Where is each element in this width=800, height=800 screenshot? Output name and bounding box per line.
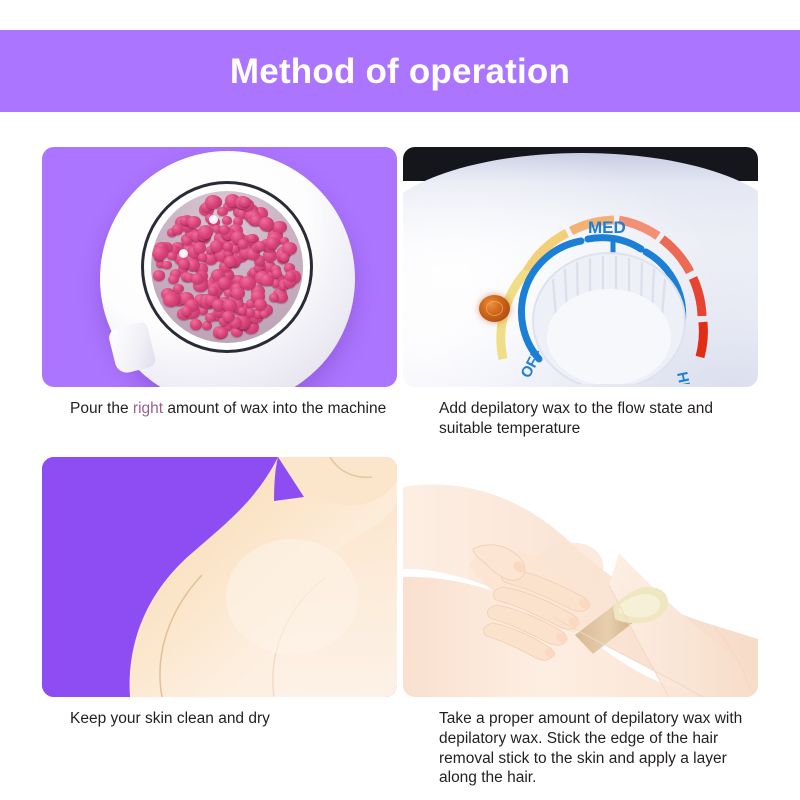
- step-card-1: Pour the right amount of wax into the ma…: [42, 147, 397, 451]
- dial-knob: [533, 253, 685, 384]
- step-caption-2: Add depilatory wax to the flow state and…: [403, 387, 758, 451]
- wax-bead: [223, 242, 233, 251]
- page-title: Method of operation: [230, 54, 570, 89]
- wax-bead: [266, 237, 279, 248]
- caption-text-after: amount of wax into the machine: [163, 400, 386, 417]
- wax-bead: [202, 321, 212, 330]
- wax-bead: [182, 236, 192, 245]
- wax-bead: [198, 253, 208, 261]
- wax-warmer-temperature-dial-image: OFF ON MED HI: [403, 147, 758, 387]
- step-caption-3: Keep your skin clean and dry: [42, 697, 397, 761]
- temperature-dial[interactable]: OFF ON MED HI: [481, 209, 731, 384]
- wax-bead: [238, 307, 247, 315]
- wax-bead: [260, 310, 269, 318]
- wax-bead: [153, 270, 165, 280]
- header-banner: Method of operation: [0, 30, 800, 112]
- wax-bead: [198, 225, 213, 239]
- wax-bead: [205, 195, 221, 209]
- wax-bead: [285, 271, 296, 280]
- step-card-4: Take a proper amount of depilatory wax w…: [403, 457, 758, 788]
- wax-bead: [210, 240, 223, 252]
- applying-wax-to-leg-image: [403, 457, 758, 697]
- wax-bead: [172, 224, 184, 235]
- wax-bead: [254, 299, 267, 310]
- dial-label-hi: HI: [673, 370, 693, 384]
- wax-bead-highlight: [179, 249, 188, 258]
- wax-bead: [269, 293, 279, 302]
- wax-bead: [162, 261, 171, 269]
- pink-wax-beads: [151, 191, 303, 343]
- steps-grid: Pour the right amount of wax into the ma…: [42, 147, 758, 788]
- wax-bead-highlight: [209, 215, 218, 224]
- wax-bead: [259, 217, 274, 231]
- wax-warmer-with-pink-beads-image: [42, 147, 397, 387]
- wax-bead: [280, 253, 289, 261]
- back-shoulder-illustration: [42, 457, 397, 697]
- caption-text-before: Pour the: [70, 400, 133, 417]
- power-indicator-light: [479, 295, 510, 322]
- step-caption-4: Take a proper amount of depilatory wax w…: [403, 697, 758, 788]
- wax-bead: [167, 252, 177, 261]
- wax-bead: [187, 216, 201, 228]
- caption-highlight-word: right: [133, 400, 163, 417]
- wax-bead: [219, 225, 230, 234]
- legs-with-spatula-illustration: [403, 457, 758, 697]
- wax-bead: [222, 216, 232, 225]
- step-card-2: OFF ON MED HI Add depilatory wax to the …: [403, 147, 758, 451]
- wax-bead: [152, 246, 168, 260]
- wax-bead: [238, 239, 248, 248]
- wax-bead: [168, 275, 179, 284]
- wax-bead: [173, 284, 184, 294]
- wax-bead: [208, 286, 218, 295]
- wax-bead: [231, 287, 245, 299]
- dial-label-med: MED: [588, 218, 626, 237]
- wax-bead: [191, 273, 204, 285]
- clean-dry-skin-back-illustration-image: [42, 457, 397, 697]
- wax-pot-interior: [151, 191, 303, 343]
- wax-bead: [190, 319, 202, 330]
- wax-bead: [223, 299, 238, 312]
- wax-bead: [217, 207, 228, 217]
- step-card-3: Keep your skin clean and dry: [42, 457, 397, 788]
- wax-bead: [216, 328, 228, 339]
- wax-bead: [205, 313, 215, 322]
- step-caption-1: Pour the right amount of wax into the ma…: [42, 387, 397, 451]
- wax-bead: [247, 234, 256, 242]
- wax-bead: [272, 269, 282, 278]
- wax-bead: [260, 274, 274, 286]
- wax-bead: [181, 306, 192, 315]
